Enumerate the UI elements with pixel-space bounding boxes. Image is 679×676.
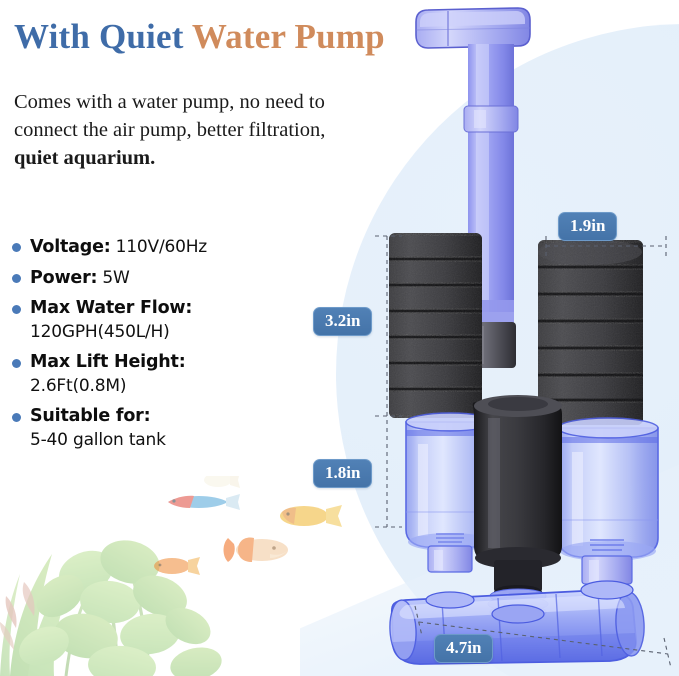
spec-item-max-lift-height: Max Lift Height: 2.6Ft(0.8M): [10, 351, 310, 398]
spec-label-suitable-for: Suitable for:: [30, 406, 150, 426]
title-part-orange: Water Pump: [192, 17, 385, 56]
description-emphasis: quiet aquarium.: [14, 147, 155, 169]
spec-item-max-water-flow: Max Water Flow: 120GPH(450L/H): [10, 297, 310, 344]
description-plain: Comes with a water pump, no need to conn…: [14, 91, 325, 141]
spec-label-power: Power:: [30, 268, 97, 288]
bullet-dot-icon: [12, 413, 21, 422]
bullet-dot-icon: [12, 274, 21, 283]
sponge-left: [385, 233, 485, 418]
spec-item-power: Power: 5W: [10, 266, 310, 290]
spec-value-voltage: 110V/60Hz: [116, 237, 207, 257]
bullet-dot-icon: [12, 243, 21, 252]
spec-list: Voltage: 110V/60Hz Power: 5W Max Water F…: [10, 235, 310, 459]
spec-label-max-lift-height: Max Lift Height:: [30, 352, 186, 372]
infographic-canvas: 3.2in 1.9in 1.8in 4.7in With Quiet Water…: [0, 0, 679, 676]
spec-label-max-water-flow: Max Water Flow:: [30, 298, 192, 318]
collection-cup-right: [558, 418, 658, 584]
bullet-dot-icon: [12, 305, 21, 314]
bullet-dot-icon: [12, 359, 21, 368]
spec-item-voltage: Voltage: 110V/60Hz: [10, 235, 310, 259]
page-title: With Quiet Water Pump: [14, 17, 385, 57]
spec-value-max-water-flow: 120GPH(450L/H): [30, 320, 310, 344]
manifold-base: [388, 581, 645, 664]
spec-value-power: 5W: [102, 268, 129, 288]
spec-item-suitable-for: Suitable for: 5-40 gallon tank: [10, 405, 310, 452]
spec-value-max-lift-height: 2.6Ft(0.8M): [30, 374, 310, 398]
description-paragraph: Comes with a water pump, no need to conn…: [14, 88, 344, 172]
title-part-blue: With Quiet: [14, 17, 192, 56]
dimension-badge-width-base: 4.7in: [434, 634, 493, 663]
sponge-right: [534, 239, 648, 425]
dimension-badge-width-top: 1.9in: [558, 212, 617, 241]
dimension-badge-height-left: 3.2in: [313, 307, 372, 336]
outlet-nozzle: [416, 8, 530, 48]
pump-motor: [473, 395, 562, 599]
spec-value-suitable-for: 5-40 gallon tank: [30, 428, 310, 452]
product-image: [370, 0, 679, 676]
spec-label-voltage: Voltage:: [30, 237, 111, 257]
aquarium-fish: [130, 476, 360, 606]
dimension-badge-height-cup: 1.8in: [313, 459, 372, 488]
